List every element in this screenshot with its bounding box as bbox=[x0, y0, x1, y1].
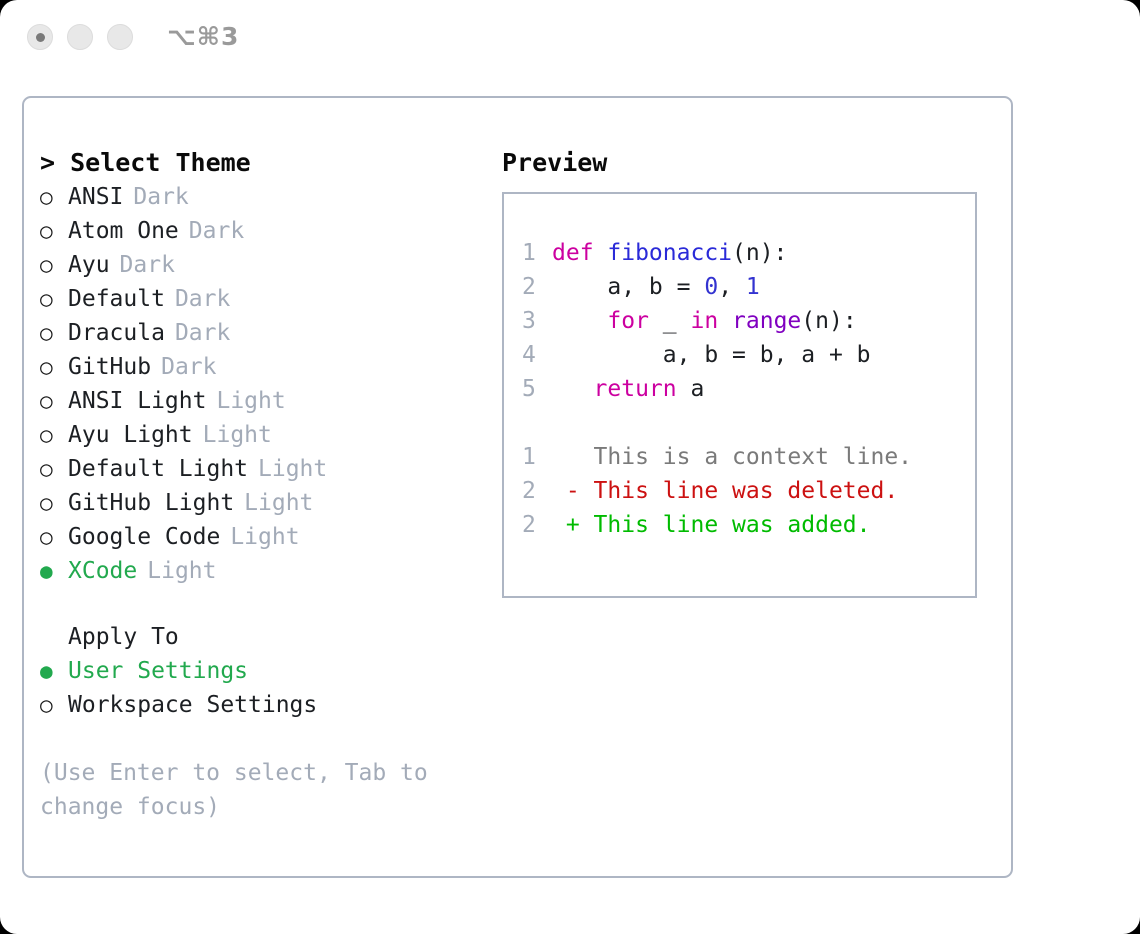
apply-to-option-label: User Settings bbox=[68, 654, 248, 688]
code-token: - This line was deleted. bbox=[552, 478, 898, 504]
code-line: 2 - This line was deleted. bbox=[522, 474, 969, 508]
code-preview-area: 1def fibonacci(n):2 a, b = 0, 13 for _ i… bbox=[522, 236, 969, 542]
zoom-dot-icon[interactable] bbox=[107, 24, 133, 50]
code-token: , bbox=[718, 274, 746, 300]
code-token: for bbox=[607, 308, 649, 334]
preview-column: Preview 1def fibonacci(n):2 a, b = 0, 13… bbox=[502, 146, 1002, 598]
theme-list[interactable]: ○ANSIDark○Atom OneDark○AyuDark○DefaultDa… bbox=[40, 180, 500, 588]
code-line-content: a, b = 0, 1 bbox=[552, 270, 760, 304]
code-line: 2 a, b = 0, 1 bbox=[522, 270, 969, 304]
line-number: 1 bbox=[522, 236, 552, 270]
code-line-content: for _ in range(n): bbox=[552, 304, 857, 338]
theme-list-item[interactable]: ○ANSI LightLight bbox=[40, 384, 500, 418]
code-line: 3 for _ in range(n): bbox=[522, 304, 969, 338]
radio-unselected-icon[interactable]: ○ bbox=[40, 316, 68, 350]
code-token: + This line was added. bbox=[552, 512, 871, 538]
line-number: 5 bbox=[522, 372, 552, 406]
theme-kind-label: Light bbox=[216, 384, 285, 418]
theme-kind-label: Dark bbox=[175, 316, 230, 350]
theme-list-item[interactable]: ○ANSIDark bbox=[40, 180, 500, 214]
theme-name-label: GitHub Light bbox=[68, 486, 234, 520]
theme-name-label: ANSI bbox=[68, 180, 123, 214]
radio-unselected-icon[interactable]: ○ bbox=[40, 418, 68, 452]
code-token: a, b = bbox=[552, 274, 704, 300]
radio-unselected-icon[interactable]: ○ bbox=[40, 214, 68, 248]
apply-to-option[interactable]: ●User Settings bbox=[40, 654, 500, 688]
theme-name-label: Ayu bbox=[68, 248, 110, 282]
code-token bbox=[552, 308, 607, 334]
theme-kind-label: Light bbox=[230, 520, 299, 554]
theme-list-item[interactable]: ○GitHubDark bbox=[40, 350, 500, 384]
code-token: a bbox=[677, 376, 705, 402]
code-token bbox=[552, 376, 594, 402]
theme-list-item[interactable]: ●XCodeLight bbox=[40, 554, 500, 588]
theme-name-label: XCode bbox=[68, 554, 137, 588]
code-token: def bbox=[552, 240, 607, 266]
code-line-content: + This line was added. bbox=[552, 508, 871, 542]
code-blank-line bbox=[522, 406, 969, 440]
preview-box: 1def fibonacci(n):2 a, b = 0, 13 for _ i… bbox=[502, 192, 977, 598]
theme-kind-label: Light bbox=[203, 418, 272, 452]
theme-name-label: Atom One bbox=[68, 214, 179, 248]
code-line-content: return a bbox=[552, 372, 704, 406]
code-line-content: - This line was deleted. bbox=[552, 474, 898, 508]
theme-kind-label: Dark bbox=[133, 180, 188, 214]
theme-list-item[interactable]: ○DraculaDark bbox=[40, 316, 500, 350]
code-token: return bbox=[594, 376, 677, 402]
theme-name-label: GitHub bbox=[68, 350, 151, 384]
preview-heading: Preview bbox=[502, 146, 1002, 180]
radio-selected-icon[interactable]: ● bbox=[40, 554, 68, 588]
radio-unselected-icon[interactable]: ○ bbox=[40, 282, 68, 316]
code-line: 2 + This line was added. bbox=[522, 508, 969, 542]
code-line: 1def fibonacci(n): bbox=[522, 236, 969, 270]
window-titlebar: ⌥⌘3 bbox=[0, 0, 1140, 78]
line-number: 2 bbox=[522, 270, 552, 304]
radio-unselected-icon[interactable]: ○ bbox=[40, 350, 68, 384]
code-token bbox=[718, 308, 732, 334]
line-number: 3 bbox=[522, 304, 552, 338]
code-token: fibonacci bbox=[607, 240, 732, 266]
radio-unselected-icon[interactable]: ○ bbox=[40, 452, 68, 486]
theme-kind-label: Dark bbox=[161, 350, 216, 384]
theme-list-item[interactable]: ○AyuDark bbox=[40, 248, 500, 282]
theme-name-label: Default bbox=[68, 282, 165, 316]
theme-kind-label: Light bbox=[258, 452, 327, 486]
radio-selected-icon[interactable]: ● bbox=[40, 654, 68, 688]
theme-name-label: Google Code bbox=[68, 520, 220, 554]
theme-kind-label: Light bbox=[147, 554, 216, 588]
theme-selector-column: > Select Theme ○ANSIDark○Atom OneDark○Ay… bbox=[40, 146, 500, 824]
line-number: 2 bbox=[522, 474, 552, 508]
code-line: 4 a, b = b, a + b bbox=[522, 338, 969, 372]
select-theme-heading: > Select Theme bbox=[40, 146, 500, 180]
code-token: in bbox=[690, 308, 718, 334]
code-line-content: def fibonacci(n): bbox=[552, 236, 787, 270]
code-token: a, b = b, a + b bbox=[552, 342, 871, 368]
code-token: 0 bbox=[704, 274, 718, 300]
apply-to-option[interactable]: ○Workspace Settings bbox=[40, 688, 500, 722]
terminal-window: ⌥⌘3 > Select Theme ○ANSIDark○Atom OneDar… bbox=[0, 0, 1140, 934]
theme-list-item[interactable]: ○Google CodeLight bbox=[40, 520, 500, 554]
code-token: This is a context line. bbox=[552, 444, 912, 470]
radio-unselected-icon[interactable]: ○ bbox=[40, 384, 68, 418]
radio-unselected-icon[interactable]: ○ bbox=[40, 688, 68, 722]
theme-name-label: Dracula bbox=[68, 316, 165, 350]
keyboard-shortcut-label: ⌥⌘3 bbox=[167, 22, 239, 51]
theme-kind-label: Dark bbox=[175, 282, 230, 316]
theme-name-label: ANSI Light bbox=[68, 384, 206, 418]
theme-list-item[interactable]: ○DefaultDark bbox=[40, 282, 500, 316]
line-number: 4 bbox=[522, 338, 552, 372]
code-token: 1 bbox=[746, 274, 760, 300]
code-line-content: a, b = b, a + b bbox=[552, 338, 871, 372]
radio-unselected-icon[interactable]: ○ bbox=[40, 248, 68, 282]
traffic-light-group bbox=[27, 24, 133, 50]
apply-to-section: Apply To ●User Settings○Workspace Settin… bbox=[40, 620, 500, 722]
code-line-content: This is a context line. bbox=[552, 440, 912, 474]
code-line: 1 This is a context line. bbox=[522, 440, 969, 474]
line-number: 1 bbox=[522, 440, 552, 474]
code-line: 5 return a bbox=[522, 372, 969, 406]
code-token: (n): bbox=[732, 240, 787, 266]
keyboard-hint-text: (Use Enter to select, Tab to change focu… bbox=[40, 756, 460, 824]
theme-kind-label: Dark bbox=[189, 214, 244, 248]
theme-list-item[interactable]: ○GitHub LightLight bbox=[40, 486, 500, 520]
apply-to-option-list[interactable]: ●User Settings○Workspace Settings bbox=[40, 654, 500, 722]
theme-list-item[interactable]: ○Default LightLight bbox=[40, 452, 500, 486]
code-token: (n): bbox=[801, 308, 856, 334]
theme-name-label: Ayu Light bbox=[68, 418, 193, 452]
code-token: range bbox=[732, 308, 801, 334]
radio-unselected-icon[interactable]: ○ bbox=[40, 486, 68, 520]
line-number: 2 bbox=[522, 508, 552, 542]
theme-name-label: Default Light bbox=[68, 452, 248, 486]
apply-to-option-label: Workspace Settings bbox=[68, 688, 317, 722]
apply-to-heading: Apply To bbox=[40, 620, 500, 654]
theme-kind-label: Light bbox=[244, 486, 313, 520]
radio-unselected-icon[interactable]: ○ bbox=[40, 520, 68, 554]
theme-list-item[interactable]: ○Atom OneDark bbox=[40, 214, 500, 248]
code-token: _ bbox=[649, 308, 691, 334]
theme-list-item[interactable]: ○Ayu LightLight bbox=[40, 418, 500, 452]
close-dot-icon[interactable] bbox=[27, 24, 53, 50]
main-panel: > Select Theme ○ANSIDark○Atom OneDark○Ay… bbox=[22, 96, 1013, 878]
minimize-dot-icon[interactable] bbox=[67, 24, 93, 50]
radio-unselected-icon[interactable]: ○ bbox=[40, 180, 68, 214]
theme-kind-label: Dark bbox=[120, 248, 175, 282]
